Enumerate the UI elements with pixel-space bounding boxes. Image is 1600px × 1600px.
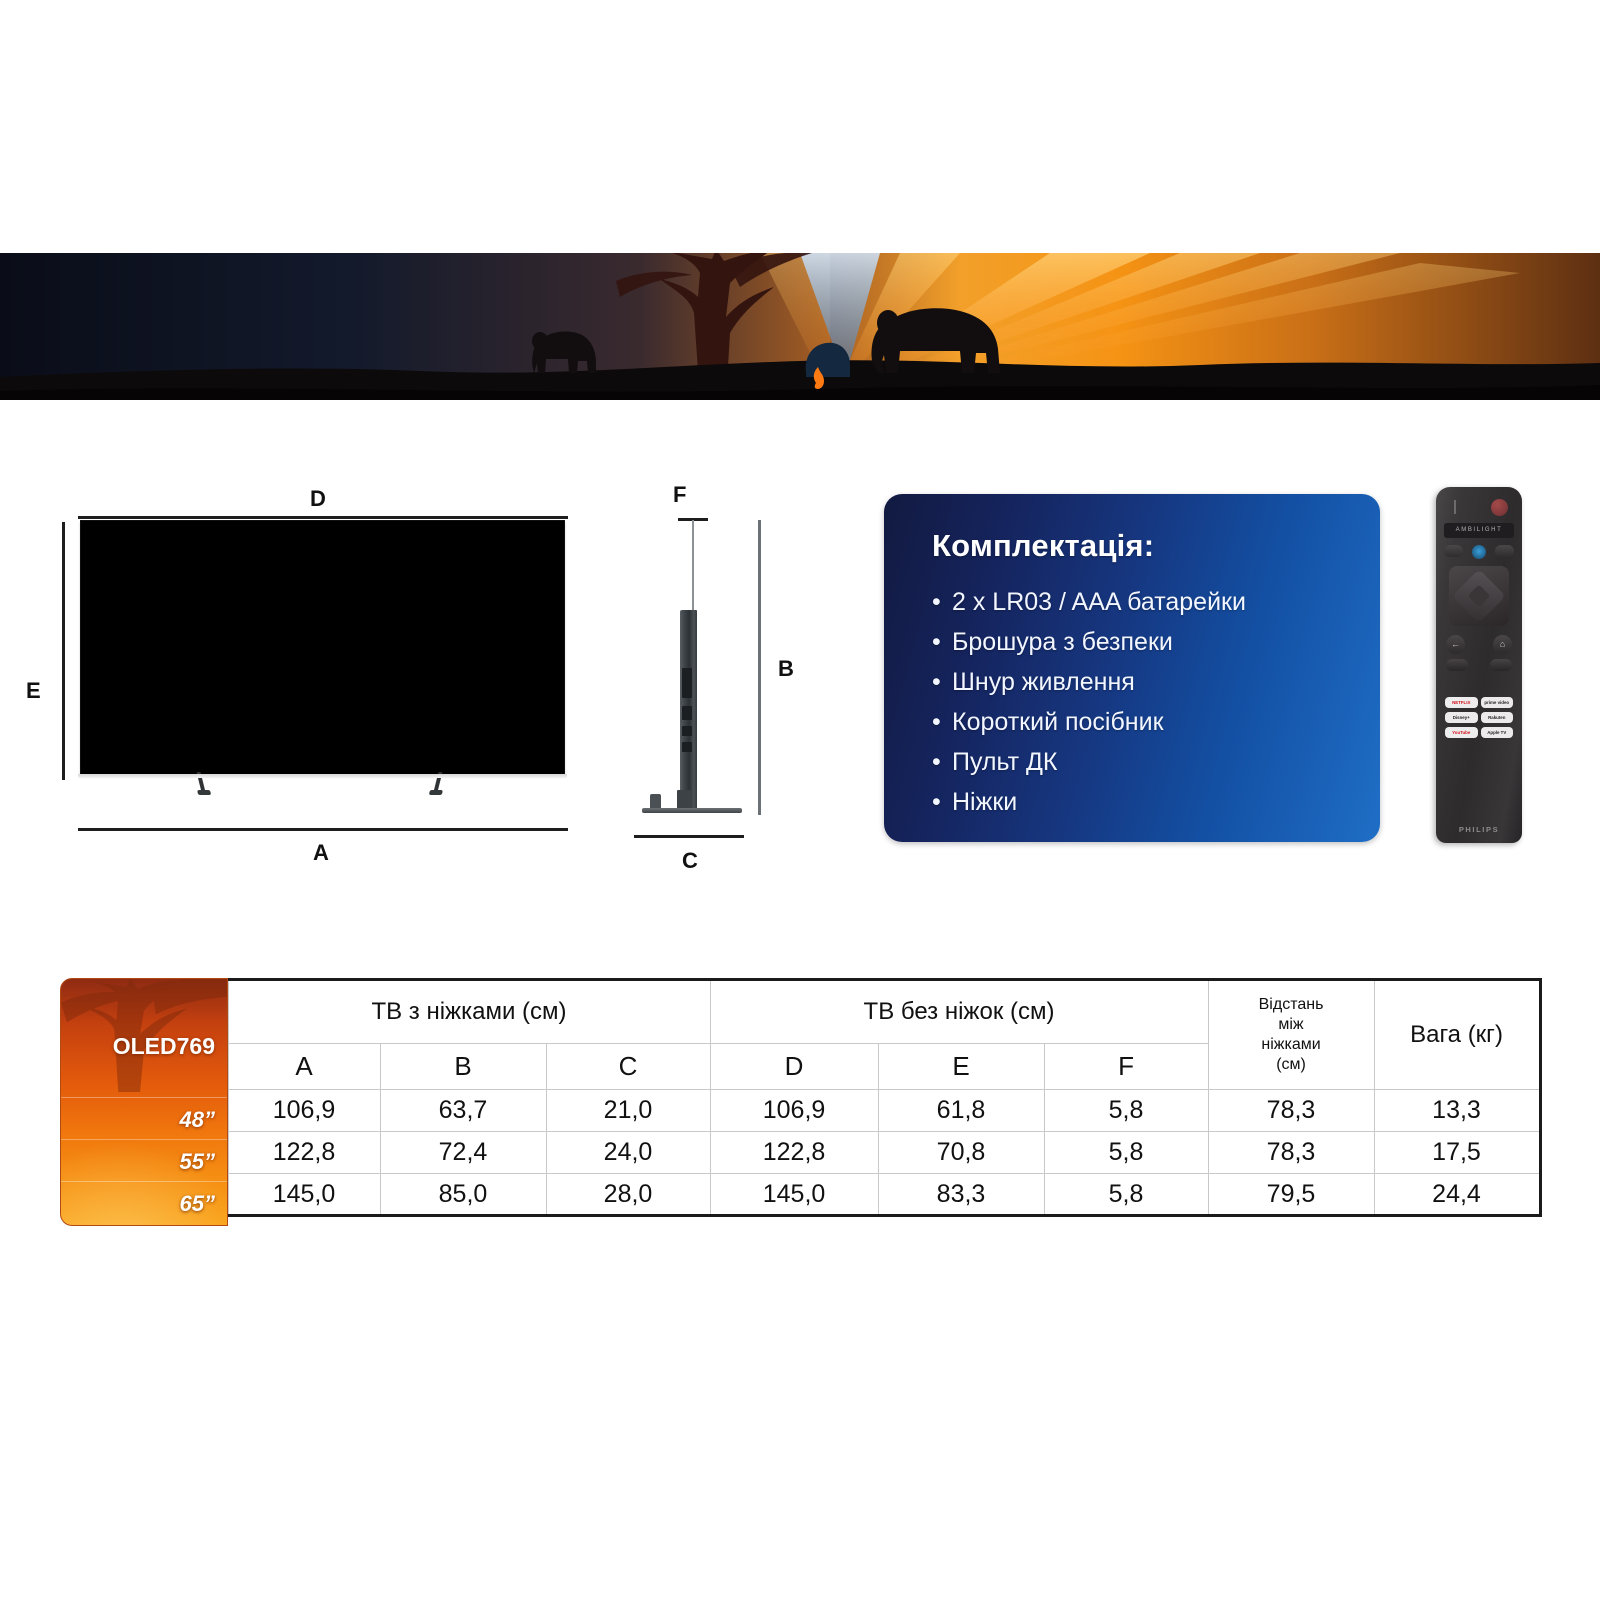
remote-top-row xyxy=(1444,545,1514,559)
dimension-label-f: F xyxy=(673,482,687,508)
dimension-line-b xyxy=(758,520,761,815)
list-item: •2 x LR03 / AAA батарейки xyxy=(932,582,1380,622)
model-name: OLED769 xyxy=(113,1033,215,1060)
list-item: •Шнур живлення xyxy=(932,662,1380,702)
dimension-label-a: A xyxy=(313,840,329,866)
disney-plus-button[interactable]: Disney+ xyxy=(1445,712,1478,723)
dpad-navigation[interactable] xyxy=(1449,566,1509,626)
cell-d: 122,8 xyxy=(710,1132,878,1174)
bullet-icon: • xyxy=(932,742,952,782)
list-item: •Пульт ДК xyxy=(932,742,1380,782)
cell-c: 24,0 xyxy=(546,1132,710,1174)
header-line: (см) xyxy=(1276,1056,1306,1073)
youtube-button[interactable]: YouTube xyxy=(1445,727,1478,738)
tv-front-view: D E A xyxy=(70,490,570,860)
cell-e: 83,3 xyxy=(878,1174,1044,1216)
dimension-line-e xyxy=(62,522,65,780)
dimension-label-c: C xyxy=(682,848,698,874)
header-dim-c: C xyxy=(546,1044,710,1090)
header-dim-b: B xyxy=(380,1044,546,1090)
package-contents-panel: Комплектація: •2 x LR03 / AAA батарейки … xyxy=(884,494,1380,842)
tv-side-edge-line xyxy=(692,520,694,615)
dimension-label-b: B xyxy=(778,656,794,682)
dimension-label-d: D xyxy=(310,486,326,512)
source-button[interactable] xyxy=(1444,545,1463,557)
philips-logo: PHILIPS xyxy=(1436,825,1522,834)
dimension-line-a xyxy=(78,828,568,831)
list-item: •Короткий посібник xyxy=(932,702,1380,742)
list-item-label: Ніжки xyxy=(952,788,1017,816)
settings-button[interactable] xyxy=(1495,545,1514,557)
size-label-65: 65” xyxy=(180,1191,215,1217)
apple-tv-button[interactable]: Apple TV xyxy=(1481,727,1514,738)
cell-b: 63,7 xyxy=(380,1090,546,1132)
tv-side-neck xyxy=(677,790,691,810)
list-item-label: Пульт ДК xyxy=(952,748,1057,776)
back-button[interactable]: ← xyxy=(1446,635,1465,654)
header-dim-f: F xyxy=(1044,1044,1208,1090)
cell-a: 106,9 xyxy=(228,1090,380,1132)
cell-weight: 24,4 xyxy=(1374,1174,1540,1216)
prime-video-button[interactable]: prime video xyxy=(1481,697,1514,708)
hero-banner-image xyxy=(0,253,1600,400)
header-line: ніжками xyxy=(1261,1036,1320,1053)
remote-control: AMBILIGHT ← ⌂ NETFLIX prime video Disney… xyxy=(1436,487,1522,843)
cell-f: 5,8 xyxy=(1044,1132,1208,1174)
rakuten-button[interactable]: Rakuten xyxy=(1481,712,1514,723)
size-label-48: 48” xyxy=(180,1107,215,1133)
cell-e: 61,8 xyxy=(878,1090,1044,1132)
bullet-icon: • xyxy=(932,662,952,702)
netflix-button[interactable]: NETFLIX xyxy=(1445,697,1478,708)
cell-a: 122,8 xyxy=(228,1132,380,1174)
header-line: Відстань xyxy=(1259,996,1324,1013)
cell-f: 5,8 xyxy=(1044,1174,1208,1216)
header-feet-distance: Відстань між ніжками (см) xyxy=(1208,980,1374,1090)
dimension-label-e: E xyxy=(26,678,41,704)
size-label-55: 55” xyxy=(180,1149,215,1175)
header-line: між xyxy=(1278,1016,1303,1033)
cell-c: 28,0 xyxy=(546,1174,710,1216)
microphone-icon xyxy=(1454,500,1456,514)
cell-c: 21,0 xyxy=(546,1090,710,1132)
package-contents-list: •2 x LR03 / AAA батарейки •Брошура з без… xyxy=(932,582,1380,822)
cell-b: 72,4 xyxy=(380,1132,546,1174)
cell-feet-distance: 78,3 xyxy=(1208,1132,1374,1174)
header-dim-a: A xyxy=(228,1044,380,1090)
cell-e: 70,8 xyxy=(878,1132,1044,1174)
cell-a: 145,0 xyxy=(228,1174,380,1216)
cell-feet-distance: 78,3 xyxy=(1208,1090,1374,1132)
header-weight: Вага (кг) xyxy=(1374,980,1540,1090)
tv-screen-front xyxy=(80,520,565,775)
list-item-label: Шнур живлення xyxy=(952,668,1135,696)
cell-d: 106,9 xyxy=(710,1090,878,1132)
bullet-icon: • xyxy=(932,622,952,662)
list-item: •Брошура з безпеки xyxy=(932,622,1380,662)
model-column: OLED769 48” 55” 65” xyxy=(60,978,228,1226)
table-row: 145,0 85,0 28,0 145,0 83,3 5,8 79,5 24,4 xyxy=(60,1174,1540,1216)
tv-side-profile xyxy=(680,610,697,810)
sunset-elephants-illustration xyxy=(0,253,1600,400)
power-button[interactable] xyxy=(1491,499,1508,516)
cell-weight: 17,5 xyxy=(1374,1132,1540,1174)
home-button[interactable]: ⌂ xyxy=(1493,635,1512,654)
header-tv-with-stand: ТВ з ніжками (см) xyxy=(228,980,710,1044)
dimension-line-d xyxy=(78,516,568,519)
volume-rocker[interactable] xyxy=(1446,659,1468,671)
list-item: •Ніжки xyxy=(932,782,1380,822)
cell-feet-distance: 79,5 xyxy=(1208,1174,1374,1216)
remote-volume-channel-row xyxy=(1446,659,1512,671)
cell-b: 85,0 xyxy=(380,1174,546,1216)
ambilight-button[interactable]: AMBILIGHT xyxy=(1444,523,1514,538)
table-group-header-row: ТВ з ніжками (см) ТВ без ніжок (см) Відс… xyxy=(60,980,1540,1044)
table-row: 122,8 72,4 24,0 122,8 70,8 5,8 78,3 17,5 xyxy=(60,1132,1540,1174)
header-dim-e: E xyxy=(878,1044,1044,1090)
tv-side-view: F B C xyxy=(620,460,820,860)
tv-foot-right xyxy=(434,772,443,792)
bullet-icon: • xyxy=(932,702,952,742)
product-spec-sheet: D E A F B xyxy=(0,0,1600,1600)
tv-foot-left xyxy=(197,772,206,792)
cell-d: 145,0 xyxy=(710,1174,878,1216)
remote-app-shortcuts: NETFLIX prime video Disney+ Rakuten YouT… xyxy=(1445,697,1513,738)
tv-side-base-plate xyxy=(642,808,742,813)
assistant-button[interactable] xyxy=(1472,545,1486,559)
header-tv-without-stand: ТВ без ніжок (см) xyxy=(710,980,1208,1044)
header-dim-d: D xyxy=(710,1044,878,1090)
dimension-line-c xyxy=(634,835,744,838)
bullet-icon: • xyxy=(932,782,952,822)
table-row: 106,9 63,7 21,0 106,9 61,8 5,8 78,3 13,3 xyxy=(60,1090,1540,1132)
cell-weight: 13,3 xyxy=(1374,1090,1540,1132)
bullet-icon: • xyxy=(932,582,952,622)
package-contents-title: Комплектація: xyxy=(932,528,1380,564)
remote-nav-row: ← ⌂ xyxy=(1446,635,1512,654)
cell-f: 5,8 xyxy=(1044,1090,1208,1132)
specifications-table: ТВ з ніжками (см) ТВ без ніжок (см) Відс… xyxy=(60,978,1540,1217)
list-item-label: Брошура з безпеки xyxy=(952,628,1173,656)
channel-rocker[interactable] xyxy=(1490,659,1512,671)
list-item-label: Короткий посібник xyxy=(952,708,1164,736)
list-item-label: 2 x LR03 / AAA батарейки xyxy=(952,588,1246,616)
